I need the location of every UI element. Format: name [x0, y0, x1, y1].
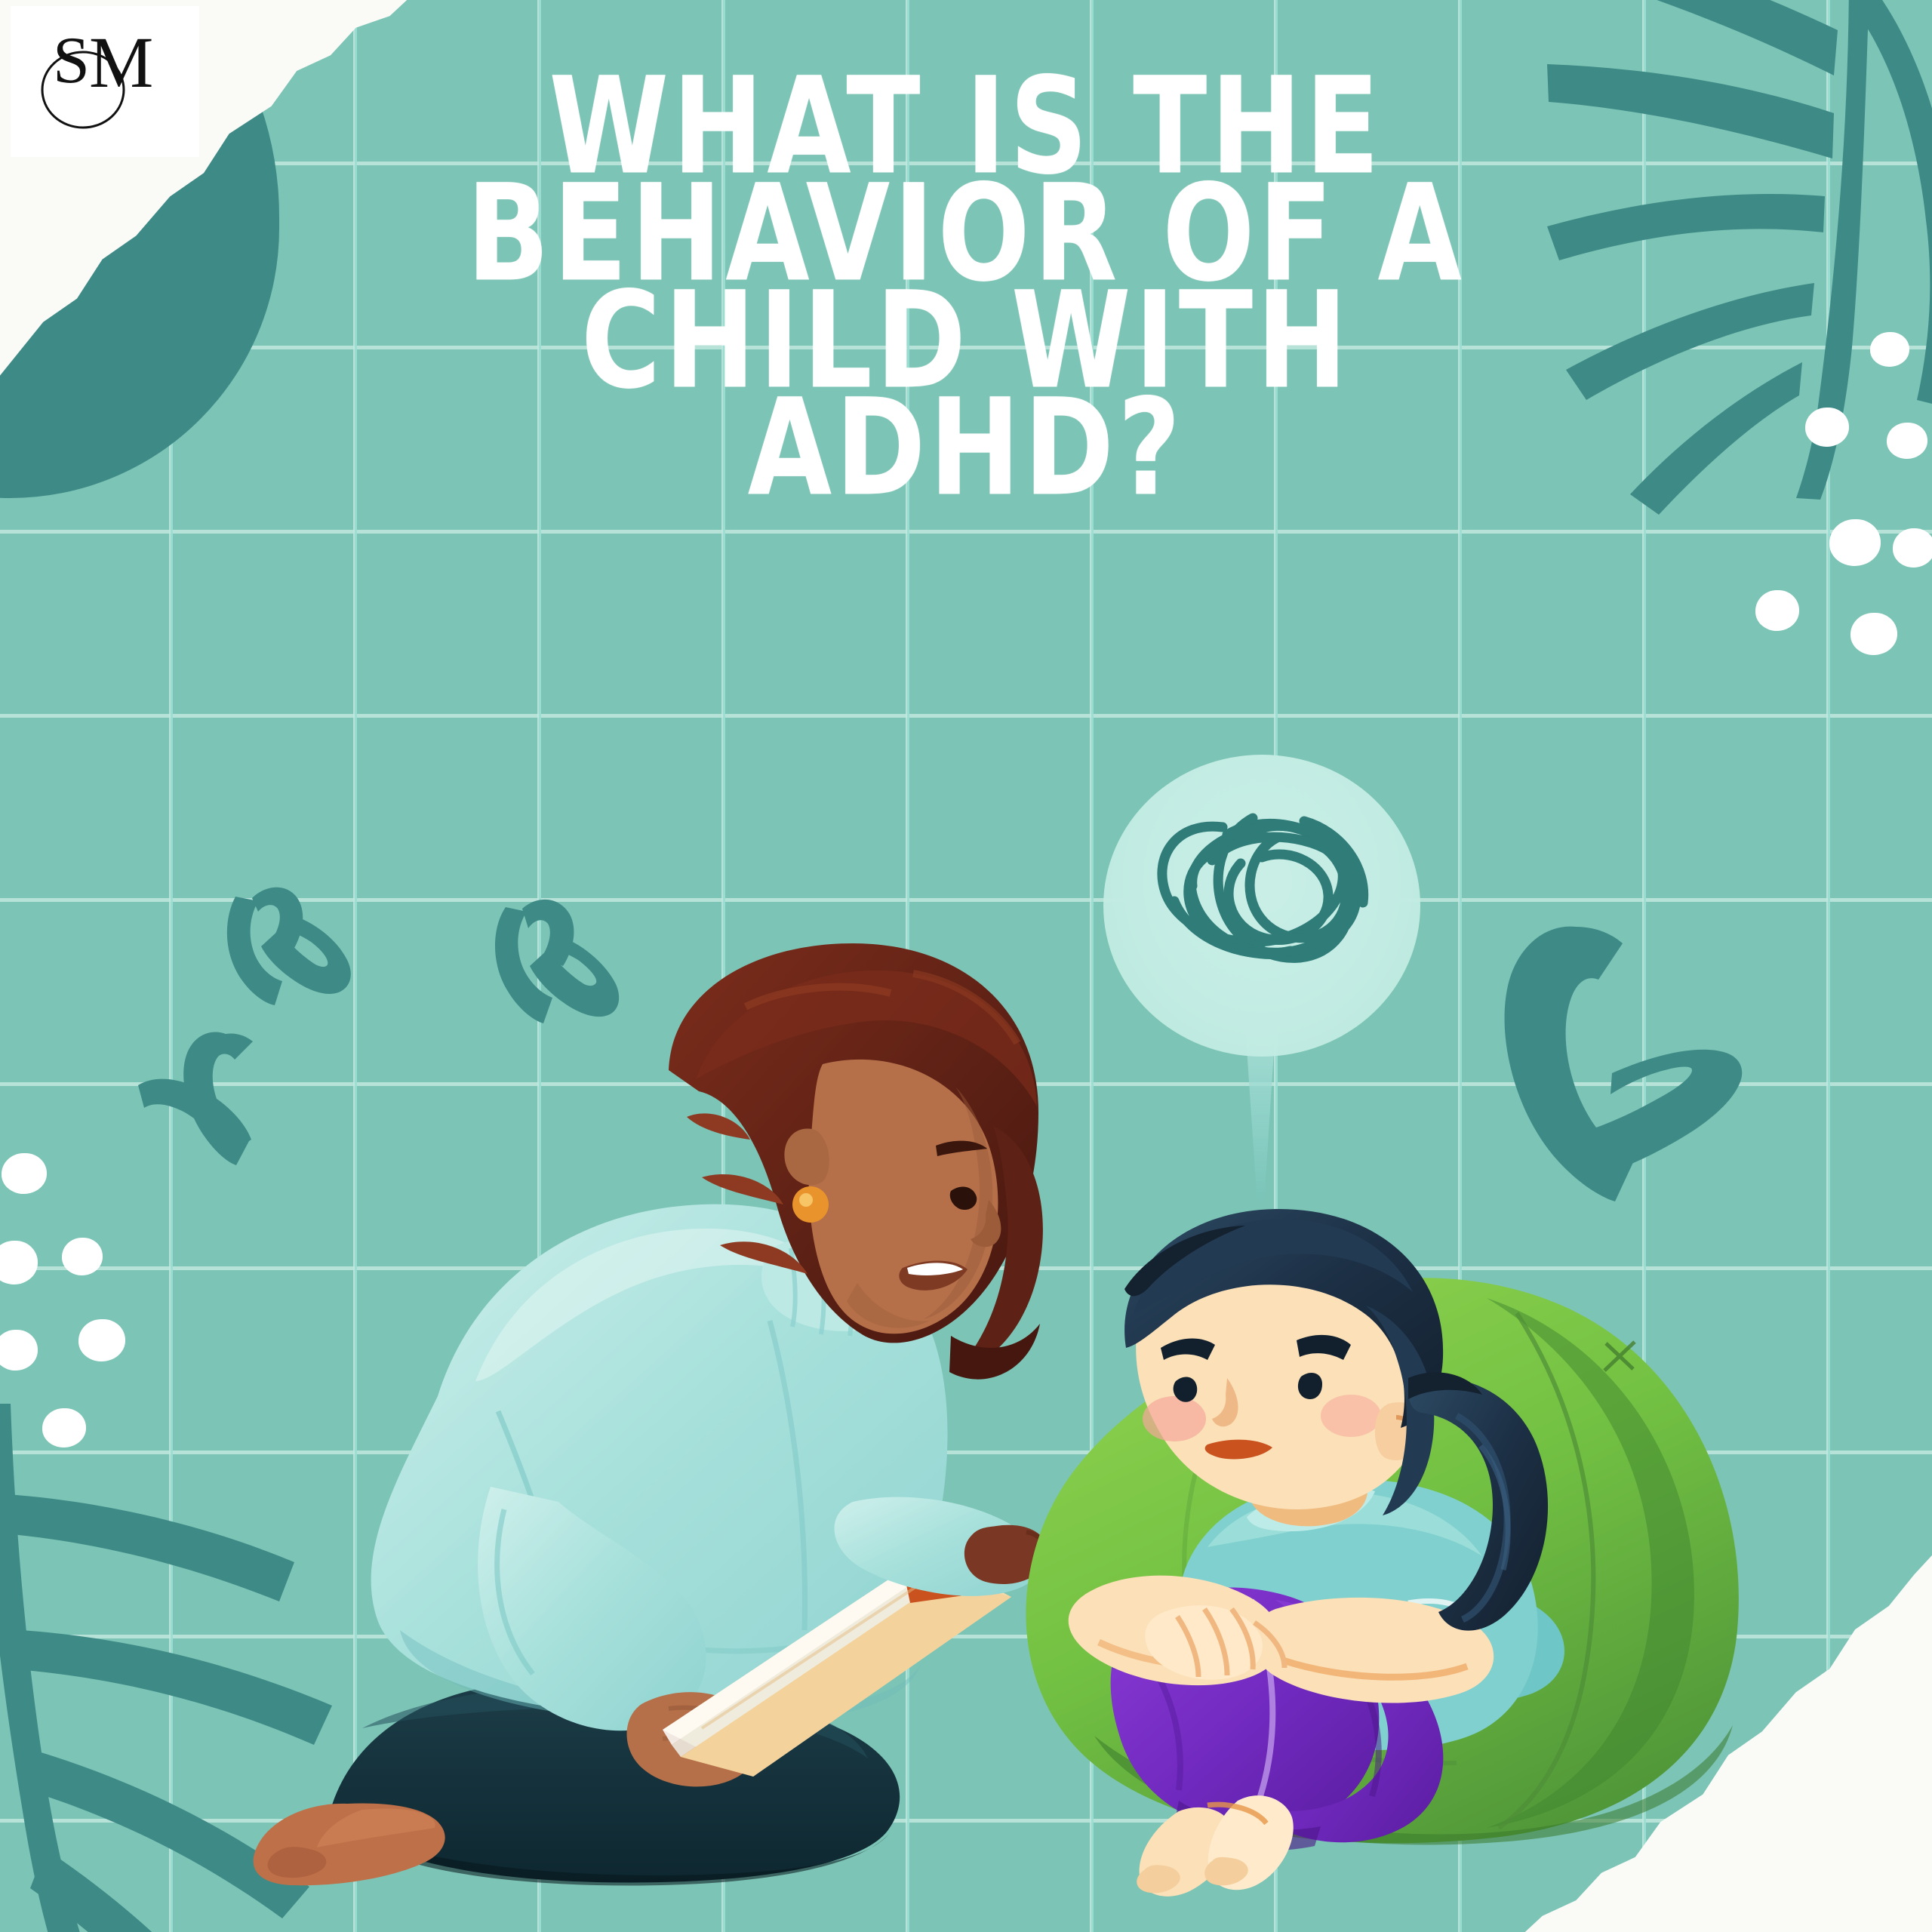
deco-dot	[1829, 519, 1881, 566]
deco-dot	[1850, 613, 1897, 655]
brand-logo-badge[interactable]: S M	[11, 6, 199, 157]
svg-text:S: S	[53, 24, 90, 97]
deco-dot	[0, 1241, 38, 1284]
woman-foot	[254, 1804, 445, 1886]
headline-line-4: ADHD?	[343, 393, 1589, 503]
deco-dot	[1893, 528, 1932, 568]
deco-dot	[42, 1408, 86, 1447]
tangled-scribble-icon	[1140, 791, 1389, 995]
v-heart-right	[1487, 913, 1743, 1215]
deco-dot	[78, 1319, 125, 1361]
deco-dot	[0, 1330, 38, 1371]
deco-dot	[2, 1153, 47, 1194]
child-feet	[1137, 1795, 1294, 1897]
thought-bubble	[1103, 755, 1420, 1207]
deco-dot	[62, 1238, 103, 1275]
sm-monogram-icon: S M	[24, 17, 186, 146]
svg-text:M: M	[89, 22, 153, 103]
woman-figure	[249, 928, 1049, 1902]
child-figure-group	[958, 1192, 1789, 1902]
poster-canvas: S M WHAT IS THE BEHAVIOR OF A CHILD WITH…	[0, 0, 1932, 1932]
headline-block: WHAT IS THE BEHAVIOR OF A CHILD WITH ADH…	[0, 72, 1932, 500]
deco-dot	[1755, 590, 1799, 631]
